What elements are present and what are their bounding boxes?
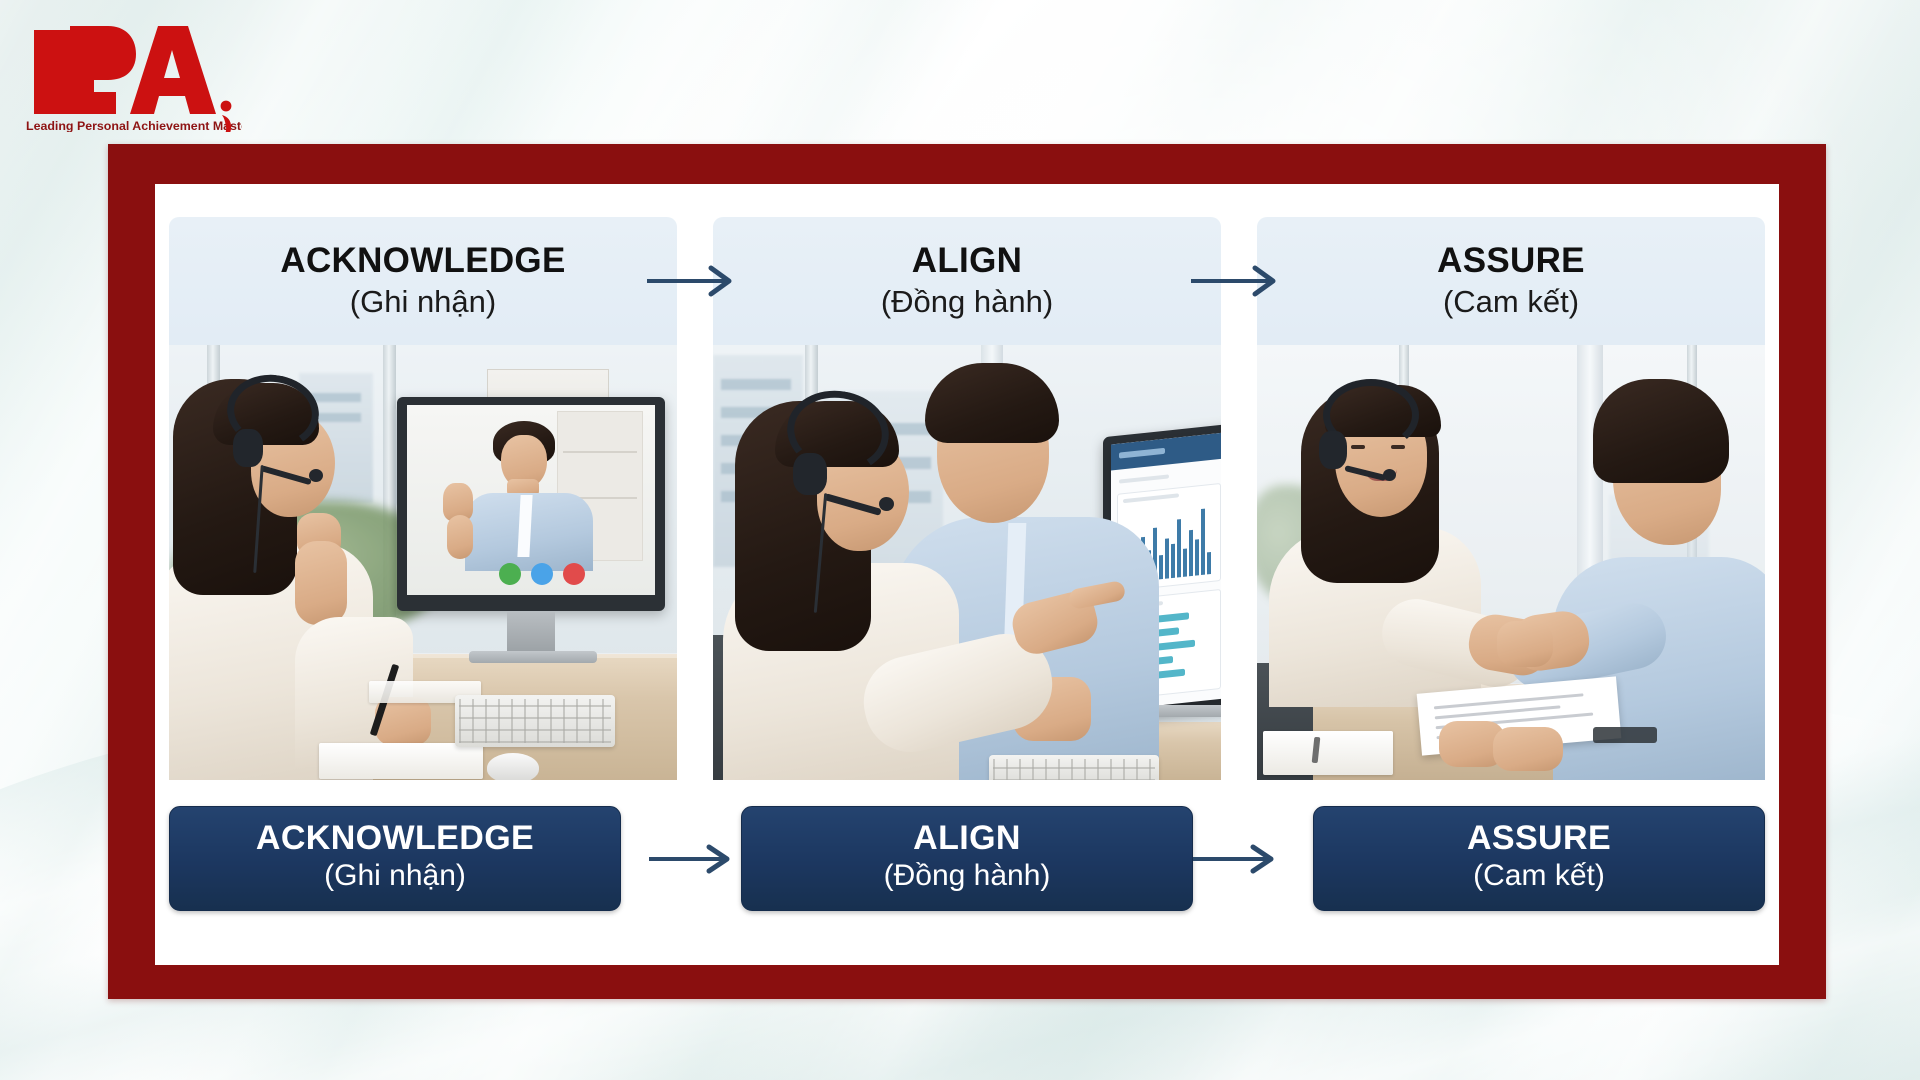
logo-tagline: Leading Personal Achievement Mastery [26, 119, 242, 132]
stage-panel-assure[interactable]: ASSURE (Cam kết) [1257, 217, 1765, 780]
stage-button-title-assure: ASSURE [1324, 821, 1754, 857]
stage-button-subtitle-acknowledge: (Ghi nhận) [180, 859, 610, 894]
stage-subtitle-align: (Đồng hành) [881, 284, 1053, 320]
stage-row: ACKNOWLEDGE (Ghi nhận) [163, 217, 1771, 780]
stage-panel-align[interactable]: ALIGN (Đồng hành) [713, 217, 1221, 780]
call-accept-icon [499, 563, 521, 585]
stage-button-title-align: ALIGN [752, 821, 1182, 857]
stage-header-acknowledge: ACKNOWLEDGE (Ghi nhận) [169, 217, 677, 345]
stage-button-subtitle-align: (Đồng hành) [752, 859, 1182, 894]
stage-header-assure: ASSURE (Cam kết) [1257, 217, 1765, 345]
stage-button-assure[interactable]: ASSURE (Cam kết) [1313, 806, 1765, 911]
stage-subtitle-assure: (Cam kết) [1443, 284, 1579, 320]
lpa-logo: Leading Personal Achievement Mastery [12, 14, 242, 132]
stage-header-align: ALIGN (Đồng hành) [713, 217, 1221, 345]
stage-button-subtitle-assure: (Cam kết) [1324, 859, 1754, 894]
button-cell-acknowledge: ACKNOWLEDGE (Ghi nhận) [169, 806, 677, 911]
button-cell-assure: ASSURE (Cam kết) [1257, 806, 1765, 911]
call-video-icon [531, 563, 553, 585]
diagram-frame: ACKNOWLEDGE (Ghi nhận) [108, 144, 1826, 999]
stage-photo-assure [1257, 345, 1765, 780]
logo-mark: Leading Personal Achievement Mastery [12, 14, 242, 132]
stage-subtitle-acknowledge: (Ghi nhận) [350, 284, 496, 320]
stage-title-acknowledge: ACKNOWLEDGE [280, 243, 565, 280]
stage-panel-acknowledge[interactable]: ACKNOWLEDGE (Ghi nhận) [169, 217, 677, 780]
stage-button-acknowledge[interactable]: ACKNOWLEDGE (Ghi nhận) [169, 806, 621, 911]
stage-photo-align [713, 345, 1221, 780]
stage-photo-acknowledge [169, 345, 677, 780]
call-end-icon [563, 563, 585, 585]
stage-button-align[interactable]: ALIGN (Đồng hành) [741, 806, 1193, 911]
stage-title-align: ALIGN [912, 243, 1022, 280]
process-flow-diagram: ACKNOWLEDGE (Ghi nhận) [155, 184, 1779, 965]
stage-title-assure: ASSURE [1437, 243, 1585, 280]
diagram-canvas: ACKNOWLEDGE (Ghi nhận) [155, 184, 1779, 965]
button-cell-align: ALIGN (Đồng hành) [713, 806, 1221, 911]
stage-button-title-acknowledge: ACKNOWLEDGE [180, 821, 610, 857]
stage-button-row: ACKNOWLEDGE (Ghi nhận) ALIGN (Đồng hành) [163, 780, 1771, 911]
